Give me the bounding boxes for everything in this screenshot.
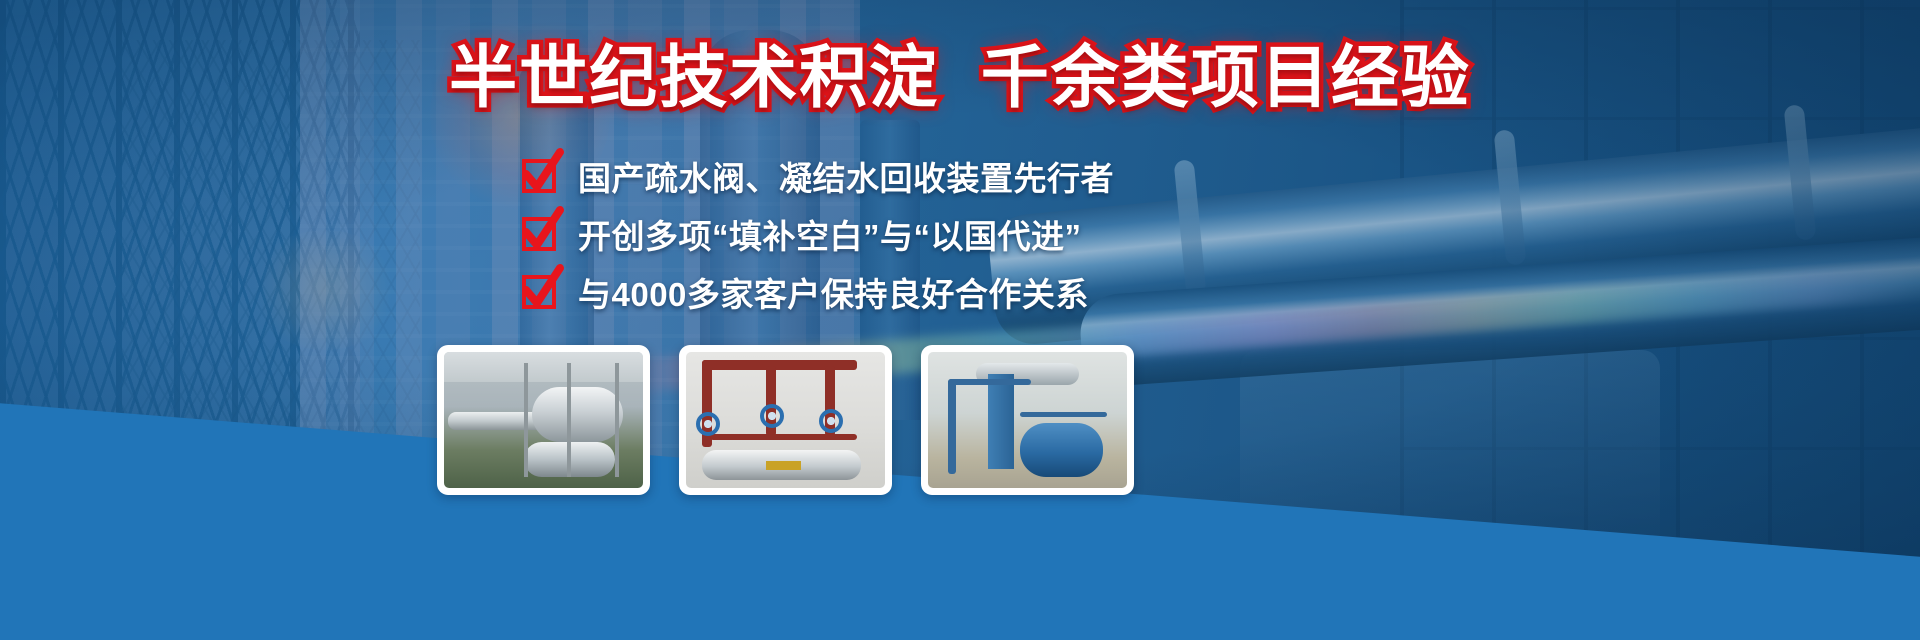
feature-bullet-label: 开创多项“填补空白”与“以国代进” <box>578 210 1082 258</box>
product-photo-card[interactable] <box>679 345 892 495</box>
feature-bullet-item: 与4000多家客户保持良好合作关系 <box>522 266 1282 318</box>
product-photo-image <box>444 352 643 488</box>
feature-bullet-item: 国产疏水阀、凝结水回收装置先行者 <box>522 150 1282 202</box>
feature-bullet-label: 国产疏水阀、凝结水回收装置先行者 <box>578 152 1114 200</box>
feature-bullet-list: 国产疏水阀、凝结水回收装置先行者 开创多项“填补空白”与“以国代进” 与4000… <box>522 150 1282 324</box>
checkbox-checked-icon <box>522 275 556 309</box>
checkbox-checked-icon <box>522 217 556 251</box>
banner-headline: 半世纪技术积淀 千余类项目经验 <box>0 40 1920 116</box>
checkbox-checked-icon <box>522 159 556 193</box>
promo-banner: 半世纪技术积淀 千余类项目经验 国产疏水阀、凝结水回收装置先行者 开创多项“填补… <box>0 0 1920 640</box>
product-photo-card[interactable] <box>921 345 1134 495</box>
product-photo-gallery <box>437 345 1134 495</box>
product-photo-image <box>686 352 885 488</box>
product-photo-card[interactable] <box>437 345 650 495</box>
feature-bullet-item: 开创多项“填补空白”与“以国代进” <box>522 208 1282 260</box>
product-photo-image <box>928 352 1127 488</box>
feature-bullet-label: 与4000多家客户保持良好合作关系 <box>578 268 1089 316</box>
